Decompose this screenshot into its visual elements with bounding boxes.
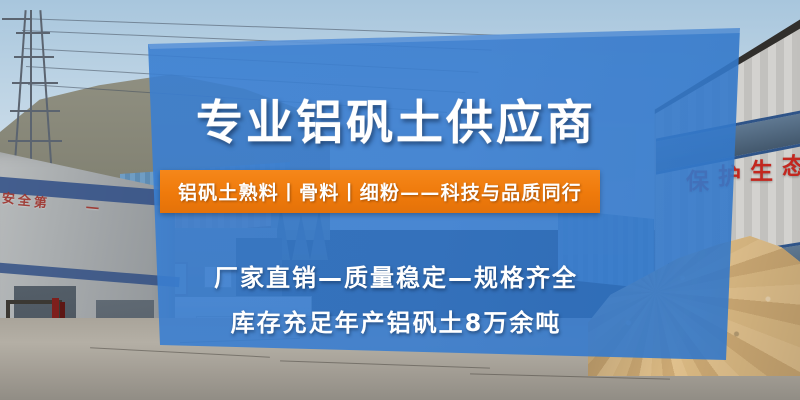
banner-subline-1: 厂家直销—质量稳定—规格齐全	[0, 258, 800, 293]
banner-subline-2: 库存充足年产铝矾土8万余吨	[0, 303, 800, 338]
highlight-bar-text: 铝矾土熟料丨骨料丨细粉——科技与品质同行	[178, 178, 582, 205]
highlight-bar: 铝矾土熟料丨骨料丨细粉——科技与品质同行	[160, 170, 600, 213]
banner-title: 专业铝矾土供应商	[0, 84, 800, 153]
promo-banner: 安 全 第 一 保 护 生 态 专业铝矾土供应商	[0, 0, 800, 400]
banner-content: 专业铝矾土供应商 铝矾土熟料丨骨料丨细粉——科技与品质同行 厂家直销—质量稳定—…	[0, 0, 800, 400]
